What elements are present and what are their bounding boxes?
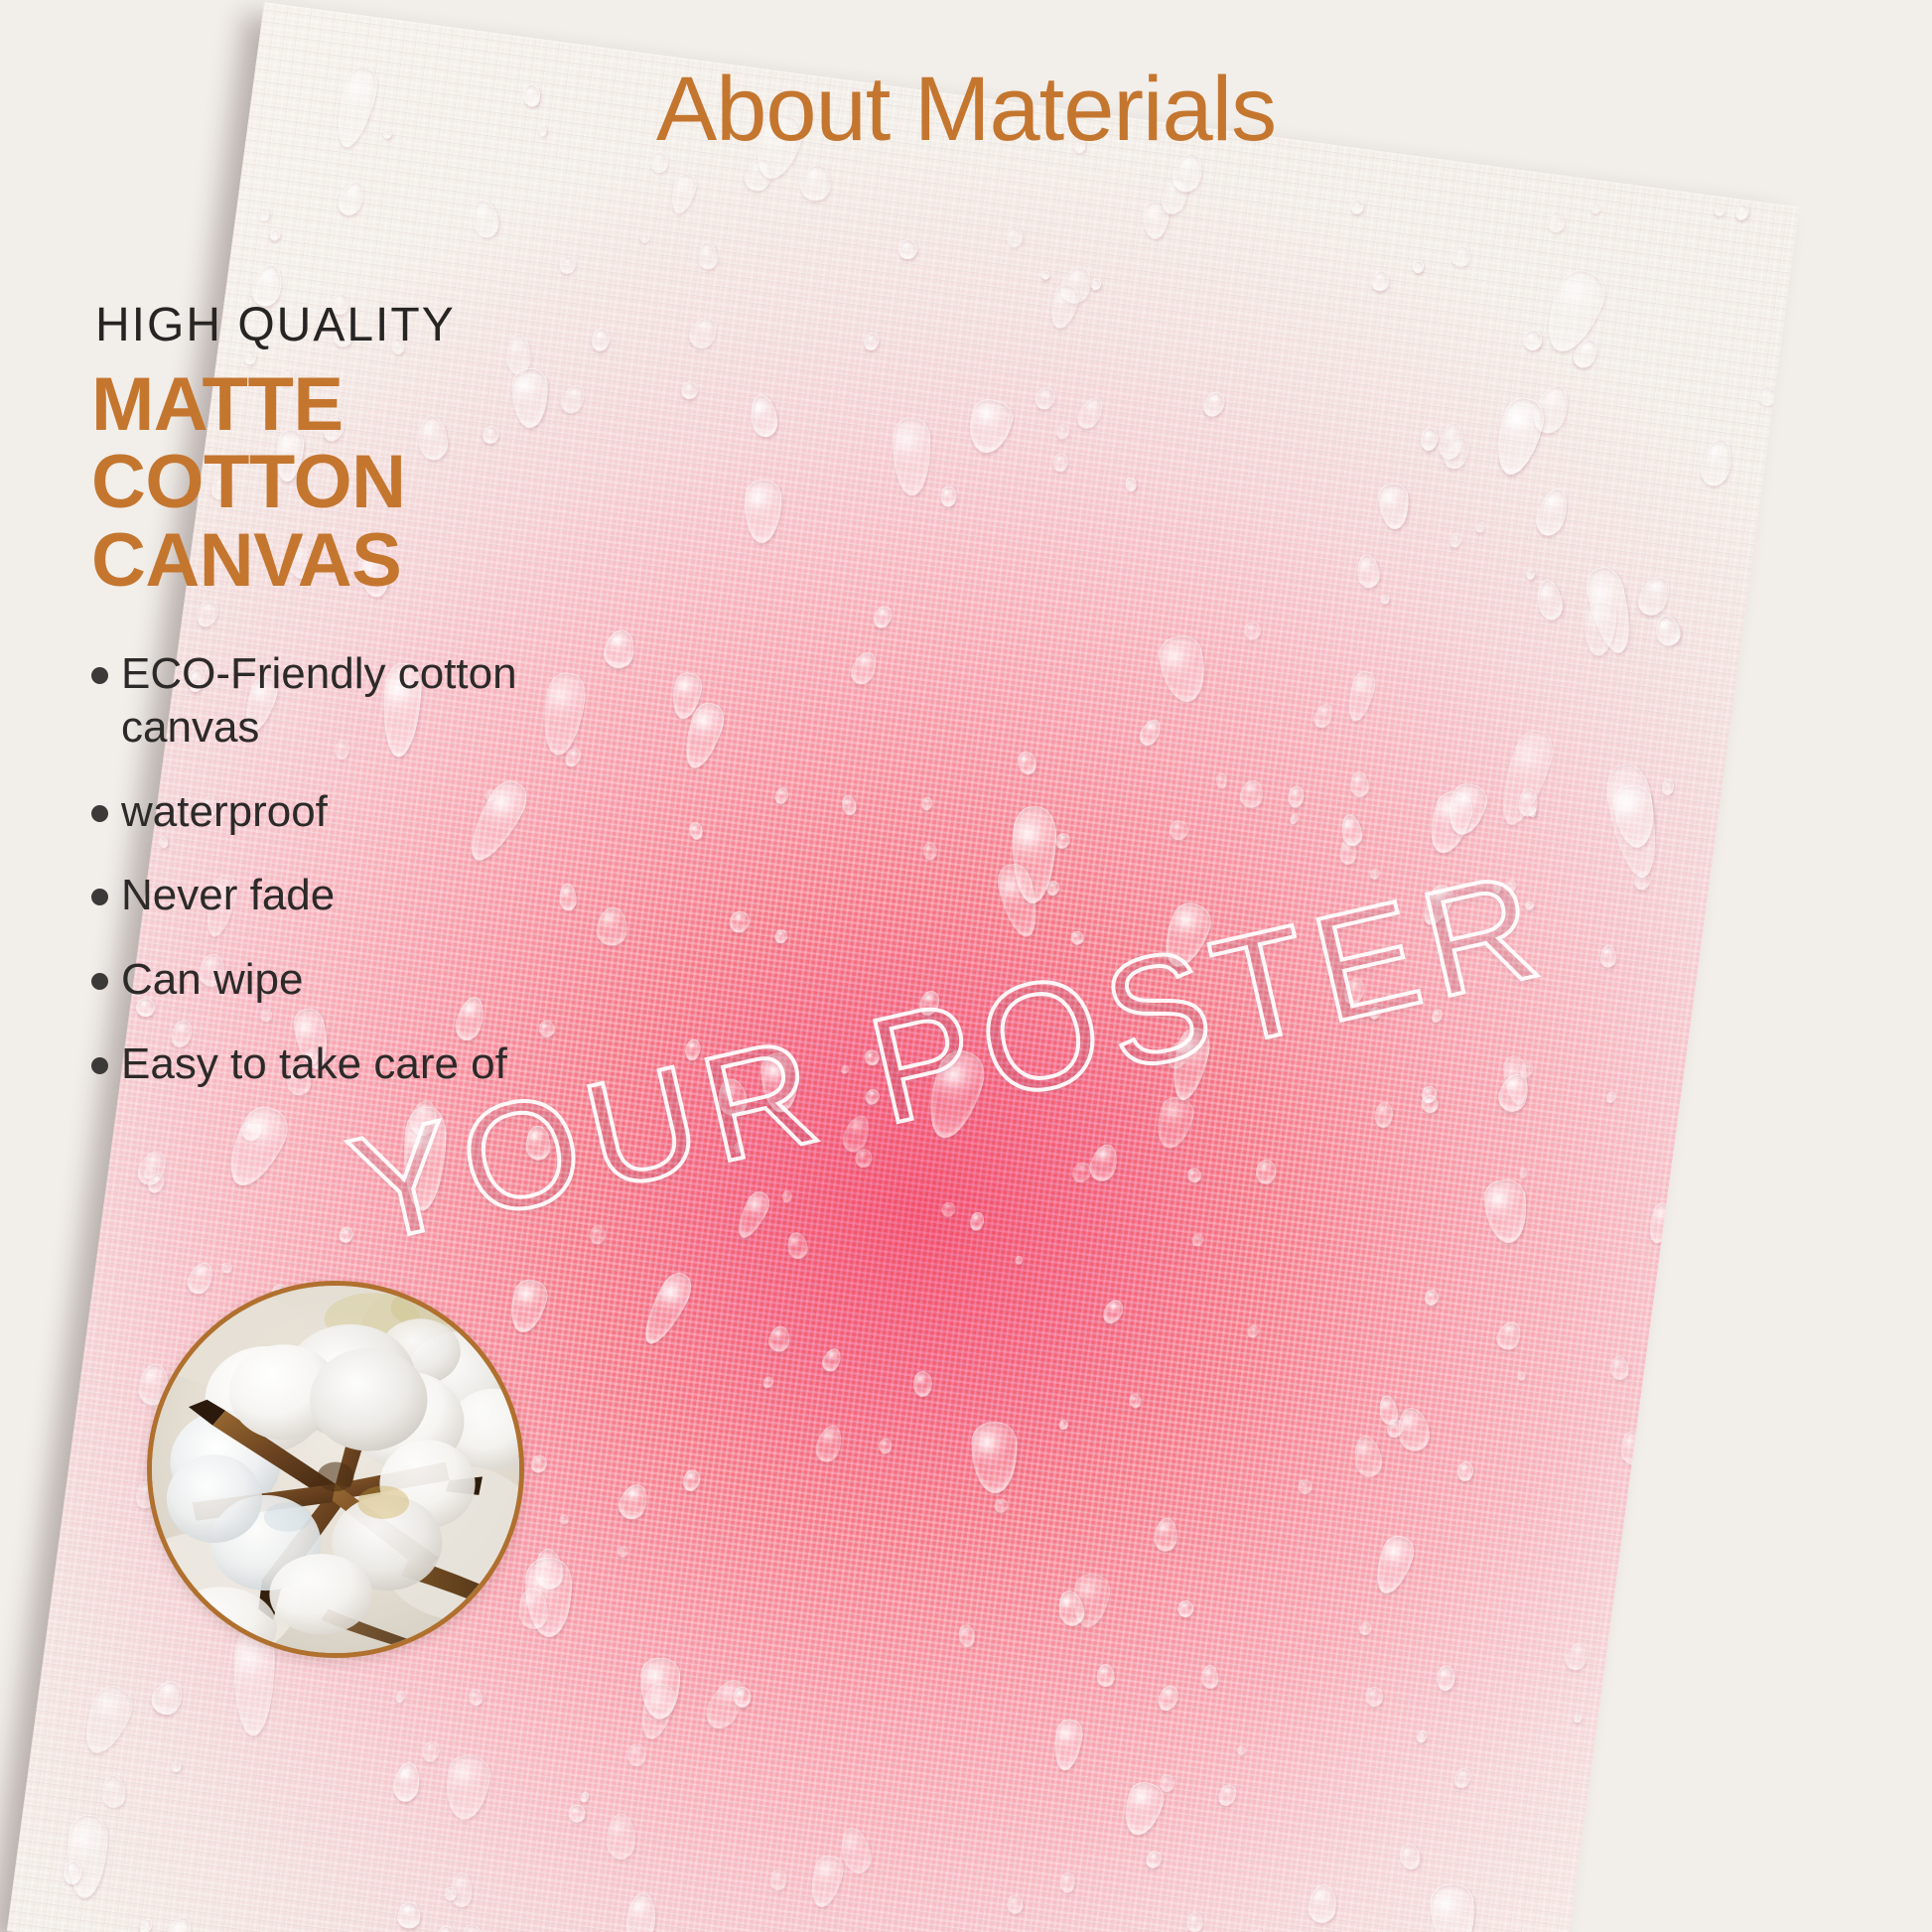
water-droplet <box>766 1324 792 1354</box>
water-droplet <box>1373 1101 1394 1128</box>
water-droplet <box>957 1623 977 1648</box>
feature-label: waterproof <box>121 785 328 840</box>
eyebrow-label: HIGH QUALITY <box>95 298 647 352</box>
water-droplet-large <box>1429 1882 1477 1932</box>
water-droplet-large <box>1482 1177 1531 1245</box>
water-droplet <box>568 1804 585 1823</box>
water-droplet <box>1632 571 1676 620</box>
water-droplet <box>854 1148 873 1169</box>
water-droplet <box>1451 1765 1474 1790</box>
bullet-dot-icon <box>91 889 108 905</box>
water-droplet <box>748 392 780 439</box>
water-droplet <box>938 1200 957 1219</box>
water-droplet <box>1016 750 1038 776</box>
feature-item: ECO-Friendly cotton canvas <box>91 647 647 756</box>
water-droplet <box>1430 1008 1444 1024</box>
water-droplet <box>685 313 723 353</box>
water-droplet <box>897 238 919 260</box>
water-droplet-large <box>963 395 1017 457</box>
water-droplet <box>1609 1355 1629 1380</box>
water-droplet <box>184 1258 218 1297</box>
water-droplet <box>452 1871 473 1906</box>
headline-line-2: CANVAS <box>91 522 647 600</box>
water-droplet <box>920 796 933 812</box>
water-droplet <box>1005 224 1023 247</box>
water-droplet <box>1349 198 1365 214</box>
water-droplet <box>1125 477 1139 492</box>
water-droplet <box>338 1225 355 1244</box>
water-droplet <box>396 1900 422 1930</box>
water-droplet <box>1099 1297 1127 1327</box>
water-droplet <box>1052 453 1069 474</box>
water-droplet <box>1397 1842 1422 1871</box>
water-droplet <box>684 1038 703 1062</box>
water-droplet <box>806 1853 847 1910</box>
page-title: About Materials <box>0 58 1932 162</box>
water-droplet <box>1506 880 1516 892</box>
water-droplet <box>839 1112 876 1157</box>
water-droplet <box>147 1676 189 1720</box>
water-droplet <box>1070 930 1084 945</box>
water-droplet <box>1534 578 1565 622</box>
water-droplet <box>1620 1431 1644 1465</box>
water-droplet <box>623 1890 657 1932</box>
water-droplet <box>743 480 781 544</box>
water-droplet <box>916 989 942 1019</box>
water-droplet <box>1287 784 1306 808</box>
water-droplet <box>1412 259 1425 273</box>
water-droplet <box>1350 770 1369 797</box>
water-droplet <box>839 1064 851 1076</box>
water-droplet <box>1176 1599 1195 1618</box>
water-droplet <box>1187 1912 1203 1932</box>
water-droplet <box>1157 898 1217 974</box>
water-droplet <box>840 794 858 817</box>
water-droplet <box>872 603 896 629</box>
water-droplet <box>1355 554 1380 590</box>
water-droplet <box>1190 1232 1206 1249</box>
water-droplet <box>1364 1687 1383 1707</box>
water-droplet <box>1040 270 1050 281</box>
water-droplet <box>579 1790 591 1803</box>
water-droplet <box>992 1497 1010 1516</box>
water-droplet <box>1653 614 1683 648</box>
water-droplet <box>716 1077 751 1119</box>
water-droplet <box>528 1452 549 1474</box>
water-droplet <box>1448 531 1462 548</box>
water-droplet <box>912 1371 931 1397</box>
water-droplet <box>893 418 931 496</box>
water-droplet <box>391 1760 422 1803</box>
water-droplet <box>772 928 790 946</box>
water-droplet <box>525 1125 551 1161</box>
water-droplet <box>688 821 704 841</box>
feature-label: Never fade <box>121 869 335 923</box>
water-droplet <box>1644 1200 1678 1247</box>
water-droplet <box>1186 1167 1202 1183</box>
water-droplet <box>1351 1434 1384 1479</box>
water-droplet <box>1419 426 1440 453</box>
water-droplet <box>65 1813 109 1899</box>
water-droplet-large <box>1377 483 1410 530</box>
water-droplet-large <box>504 1276 551 1336</box>
water-droplet <box>335 177 369 218</box>
water-droplet <box>1215 1782 1239 1809</box>
water-droplet <box>1604 1090 1617 1105</box>
water-droplet <box>1380 595 1389 605</box>
water-droplet <box>1697 436 1736 488</box>
water-droplet <box>1054 423 1071 441</box>
water-droplet <box>1007 1895 1023 1914</box>
water-droplet <box>468 1689 483 1707</box>
feature-list: ECO-Friendly cotton canvaswaterproofNeve… <box>91 647 647 1091</box>
material-info-block: HIGH QUALITY MATTE COTTON CANVAS ECO-Fri… <box>91 298 647 1121</box>
water-droplet <box>1059 1872 1075 1894</box>
water-droplet-large <box>1167 1025 1213 1103</box>
water-droplet <box>1255 1158 1277 1184</box>
water-droplet <box>1199 388 1228 420</box>
water-droplet <box>1757 385 1776 406</box>
water-droplet <box>1200 1664 1218 1689</box>
water-droplet <box>1169 819 1189 841</box>
bullet-dot-icon <box>91 667 108 684</box>
water-droplet <box>733 1687 751 1708</box>
feature-item: Easy to take care of <box>91 1037 647 1092</box>
water-droplet <box>618 1547 628 1558</box>
water-droplet <box>268 227 282 242</box>
water-droplet <box>1245 1323 1260 1339</box>
water-droplet <box>626 1743 646 1767</box>
water-droplet <box>606 1814 634 1860</box>
water-droplet <box>639 232 652 245</box>
water-droplet <box>772 785 790 805</box>
water-droplet <box>1456 1460 1475 1482</box>
water-droplet <box>1050 1718 1084 1773</box>
water-droplet <box>878 1438 893 1454</box>
water-droplet <box>797 161 834 203</box>
water-droplet <box>1394 1406 1431 1453</box>
water-droplet <box>615 1480 653 1523</box>
water-droplet <box>1298 1478 1312 1494</box>
water-droplet <box>469 197 500 239</box>
water-droplet-large <box>760 1052 800 1114</box>
water-droplet <box>1307 1882 1338 1924</box>
water-droplet <box>1489 393 1549 480</box>
water-droplet <box>1589 201 1602 214</box>
water-droplet <box>1085 1141 1121 1184</box>
water-droplet <box>442 1752 492 1822</box>
water-droplet <box>1526 569 1535 579</box>
water-droplet <box>159 1913 198 1932</box>
water-droplet <box>1014 1255 1023 1265</box>
water-droplet <box>1144 1849 1165 1871</box>
bullet-dot-icon <box>91 1057 108 1074</box>
water-droplet <box>732 1188 773 1243</box>
cotton-boll-photo <box>147 1281 524 1658</box>
water-droplet <box>1474 520 1487 534</box>
water-droplet-large <box>1369 1532 1418 1598</box>
water-droplet <box>1367 1005 1383 1022</box>
water-droplet <box>1573 1714 1582 1724</box>
water-droplet <box>781 1190 791 1202</box>
water-droplet <box>1713 204 1725 217</box>
water-droplet <box>1357 1620 1374 1637</box>
water-droplet <box>458 1923 488 1932</box>
water-droplet <box>1562 1638 1593 1673</box>
water-droplet <box>1154 1516 1179 1552</box>
water-droplet <box>1661 778 1675 795</box>
water-droplet <box>1493 884 1502 895</box>
water-droplet <box>863 1048 880 1066</box>
water-droplet <box>1436 1664 1455 1691</box>
water-droplet <box>1244 621 1261 639</box>
water-droplet <box>434 1923 456 1932</box>
water-droplet <box>1235 1744 1246 1755</box>
water-droplet <box>726 908 752 935</box>
water-droplet <box>419 1739 442 1764</box>
water-droplet <box>1532 484 1574 539</box>
water-droplet <box>761 1375 775 1390</box>
feature-item: waterproof <box>91 785 647 840</box>
water-droplet <box>75 1681 138 1760</box>
water-droplet <box>588 1224 607 1245</box>
water-droplet <box>785 1231 809 1261</box>
water-droplet <box>846 647 881 688</box>
water-droplet <box>1237 778 1265 810</box>
water-droplet <box>1045 282 1081 332</box>
water-droplet <box>667 171 699 215</box>
feature-item: Never fade <box>91 869 647 923</box>
water-droplet <box>1215 772 1227 789</box>
water-droplet <box>636 1268 698 1350</box>
bullet-dot-icon <box>91 973 108 990</box>
water-droplet <box>1519 1168 1527 1178</box>
water-droplet <box>1059 1419 1069 1429</box>
water-droplet <box>1369 867 1381 880</box>
water-droplet <box>1156 632 1211 705</box>
water-droplet <box>1032 384 1057 412</box>
water-droplet <box>1072 392 1107 432</box>
water-droplet <box>221 1262 232 1274</box>
water-droplet <box>171 1760 182 1771</box>
water-droplet <box>1733 202 1750 221</box>
water-droplet <box>923 842 938 861</box>
water-droplet <box>558 1514 569 1526</box>
water-droplet <box>1601 760 1664 882</box>
water-droplet <box>1343 668 1379 724</box>
water-droplet <box>862 331 880 351</box>
material-headline: MATTE COTTON CANVAS <box>91 366 647 600</box>
water-droplet <box>769 1868 787 1890</box>
water-droplet <box>1423 1288 1440 1306</box>
feature-label: ECO-Friendly cotton canvas <box>121 647 538 756</box>
water-droplet <box>1417 881 1457 929</box>
water-droplet <box>256 207 270 222</box>
water-droplet-large <box>971 1422 1019 1494</box>
water-droplet <box>1523 330 1544 351</box>
water-droplet <box>968 1211 986 1233</box>
water-droplet <box>137 1917 154 1932</box>
water-droplet <box>1160 1774 1174 1792</box>
infographic-page: YOUR POSTER About Materials HIGH QUALITY… <box>0 0 1932 1932</box>
water-droplet <box>394 1690 405 1703</box>
water-droplet <box>1311 701 1336 731</box>
water-droplet <box>1548 210 1565 233</box>
water-droplet <box>1516 1371 1525 1380</box>
water-droplet <box>1599 944 1616 968</box>
water-droplet <box>1493 1318 1525 1354</box>
water-droplet <box>919 1045 991 1145</box>
water-droplet <box>863 1087 882 1107</box>
water-droplet <box>1097 1664 1116 1687</box>
water-droplet <box>1136 716 1164 749</box>
water-droplet <box>679 379 701 402</box>
water-droplet <box>101 1775 127 1809</box>
water-droplet <box>1449 243 1472 269</box>
water-droplet <box>819 1345 844 1374</box>
feature-label: Easy to take care of <box>121 1037 507 1092</box>
water-droplet <box>1152 1094 1197 1153</box>
water-droplet <box>1416 1729 1430 1744</box>
water-droplet <box>1536 263 1611 359</box>
feature-item: Can wipe <box>91 953 647 1008</box>
water-droplet <box>557 253 577 275</box>
water-droplet <box>1089 278 1102 292</box>
water-droplet <box>1155 1682 1182 1714</box>
water-droplet <box>1340 976 1368 1008</box>
water-droplet <box>1370 268 1391 292</box>
water-droplet <box>812 1422 846 1464</box>
bullet-dot-icon <box>91 805 108 822</box>
water-droplet <box>698 241 719 270</box>
water-droplet <box>939 485 956 507</box>
water-droplet <box>680 1467 702 1493</box>
water-droplet <box>1288 812 1300 825</box>
water-droplet <box>1525 900 1535 911</box>
water-droplet <box>1129 1393 1143 1409</box>
feature-label: Can wipe <box>121 953 303 1008</box>
headline-line-1: MATTE COTTON <box>91 362 405 524</box>
water-droplet <box>733 1142 744 1154</box>
